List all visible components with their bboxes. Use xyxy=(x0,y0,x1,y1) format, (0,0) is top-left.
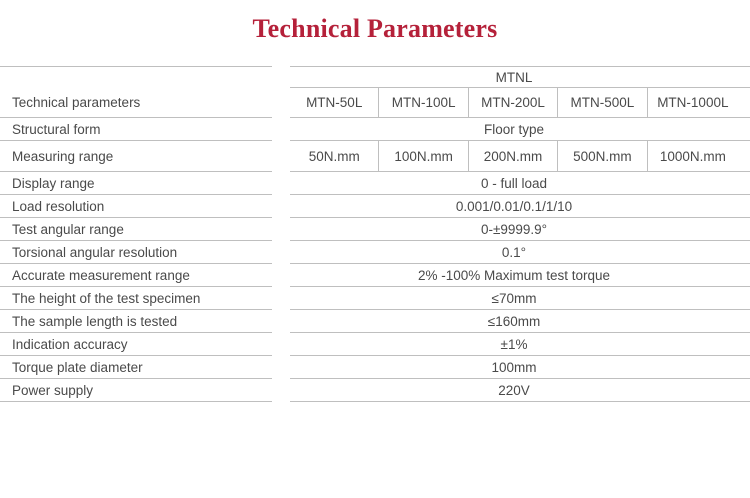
model-header-5: MTN-1000L xyxy=(647,88,738,117)
row-label-text: Load resolution xyxy=(12,199,104,214)
row-value-text: 2% -100% Maximum test torque xyxy=(290,264,738,286)
table-row: Power supply 220V xyxy=(0,379,750,402)
row-value-load-resolution: 0.001/0.01/0.1/1/10 xyxy=(290,195,750,218)
row-value-accurate-measurement-range: 2% -100% Maximum test torque xyxy=(290,264,750,287)
row-label-text: Measuring range xyxy=(12,149,113,164)
row-label-text: Torque plate diameter xyxy=(12,360,143,375)
table-row: Structural form Floor type xyxy=(0,118,750,141)
row-value-display-range: 0 - full load xyxy=(290,172,750,195)
row-label-text: Accurate measurement range xyxy=(12,268,190,283)
row-value-torque-plate-diameter: 100mm xyxy=(290,356,750,379)
row-value-text: Floor type xyxy=(290,118,738,140)
row-value-text: ≤70mm xyxy=(290,287,738,309)
row-label-test-angular-range: Test angular range xyxy=(0,218,290,241)
row-label-text: The height of the test specimen xyxy=(12,291,200,306)
table-row: Display range 0 - full load xyxy=(0,172,750,195)
row-label-indication-accuracy: Indication accuracy xyxy=(0,333,290,356)
row-label-text: Indication accuracy xyxy=(12,337,128,352)
table-row: The sample length is tested ≤160mm xyxy=(0,310,750,333)
table-row: Torsional angular resolution 0.1° xyxy=(0,241,750,264)
page-title: Technical Parameters xyxy=(0,14,750,44)
row-value-measuring-range: 50N.mm 100N.mm 200N.mm 500N.mm 1000N.mm xyxy=(290,141,750,172)
table-row: Load resolution 0.001/0.01/0.1/1/10 xyxy=(0,195,750,218)
row-label-power-supply: Power supply xyxy=(0,379,290,402)
table-row: Indication accuracy ±1% xyxy=(0,333,750,356)
label-column-header-text: Technical parameters xyxy=(12,95,140,110)
row-value-text: ±1% xyxy=(290,333,738,355)
row-value-power-supply: 220V xyxy=(290,379,750,402)
row-label-load-resolution: Load resolution xyxy=(0,195,290,218)
table-row: The height of the test specimen ≤70mm xyxy=(0,287,750,310)
row-label-torque-plate-diameter: Torque plate diameter xyxy=(0,356,290,379)
row-value-text: 0 - full load xyxy=(290,172,738,194)
series-header-cell-wrap: MTNL xyxy=(290,66,750,88)
row-label-text: Structural form xyxy=(12,122,101,137)
row-label-torsional-angular-resolution: Torsional angular resolution xyxy=(0,241,290,264)
specification-table: MTNL Technical parameters MTN-50L MTN-10… xyxy=(0,66,750,402)
row-label-display-range: Display range xyxy=(0,172,290,195)
row-label-sample-length: The sample length is tested xyxy=(0,310,290,333)
model-header-2: MTN-100L xyxy=(378,88,467,117)
table-row: Measuring range 50N.mm 100N.mm 200N.mm 5… xyxy=(0,141,750,172)
row-label-text: Test angular range xyxy=(12,222,124,237)
measuring-range-1: 50N.mm xyxy=(290,141,378,171)
row-value-sample-length: ≤160mm xyxy=(290,310,750,333)
measuring-range-4: 500N.mm xyxy=(557,141,646,171)
row-label-structural-form: Structural form xyxy=(0,118,290,141)
row-label-text: Torsional angular resolution xyxy=(12,245,177,260)
table-header-models-row: Technical parameters MTN-50L MTN-100L MT… xyxy=(0,88,750,118)
row-value-torsional-angular-resolution: 0.1° xyxy=(290,241,750,264)
rule-cap-icon xyxy=(272,66,290,67)
row-label-text: Display range xyxy=(12,176,95,191)
row-label-accurate-measurement-range: Accurate measurement range xyxy=(0,264,290,287)
row-value-text: 0.1° xyxy=(290,241,738,263)
model-header-1: MTN-50L xyxy=(290,88,378,117)
row-value-text: 0-±9999.9° xyxy=(290,218,738,240)
label-column-header: Technical parameters xyxy=(0,88,290,118)
row-value-structural-form: Floor type xyxy=(290,118,750,141)
row-label-specimen-height: The height of the test specimen xyxy=(0,287,290,310)
row-value-text: 220V xyxy=(290,379,738,401)
row-value-specimen-height: ≤70mm xyxy=(290,287,750,310)
table-row: Test angular range 0-±9999.9° xyxy=(0,218,750,241)
row-label-text: The sample length is tested xyxy=(12,314,177,329)
series-header-label: MTNL xyxy=(290,67,738,87)
row-label-text: Power supply xyxy=(12,383,93,398)
model-header-4: MTN-500L xyxy=(557,88,646,117)
table-row: Accurate measurement range 2% -100% Maxi… xyxy=(0,264,750,287)
row-label-measuring-range: Measuring range xyxy=(0,141,290,172)
measuring-range-2: 100N.mm xyxy=(378,141,467,171)
measuring-range-3: 200N.mm xyxy=(468,141,557,171)
table-row: Torque plate diameter 100mm xyxy=(0,356,750,379)
model-header-cells: MTN-50L MTN-100L MTN-200L MTN-500L MTN-1… xyxy=(290,88,750,118)
measuring-range-5: 1000N.mm xyxy=(647,141,738,171)
rule-cap-icon xyxy=(272,401,290,402)
model-header-3: MTN-200L xyxy=(468,88,557,117)
row-value-indication-accuracy: ±1% xyxy=(290,333,750,356)
row-value-test-angular-range: 0-±9999.9° xyxy=(290,218,750,241)
row-value-text: ≤160mm xyxy=(290,310,738,332)
label-column-header-top-spacer xyxy=(0,66,290,88)
table-header-series-row: MTNL xyxy=(0,66,750,88)
row-value-text: 0.001/0.01/0.1/1/10 xyxy=(290,195,738,217)
row-value-text: 100mm xyxy=(290,356,738,378)
